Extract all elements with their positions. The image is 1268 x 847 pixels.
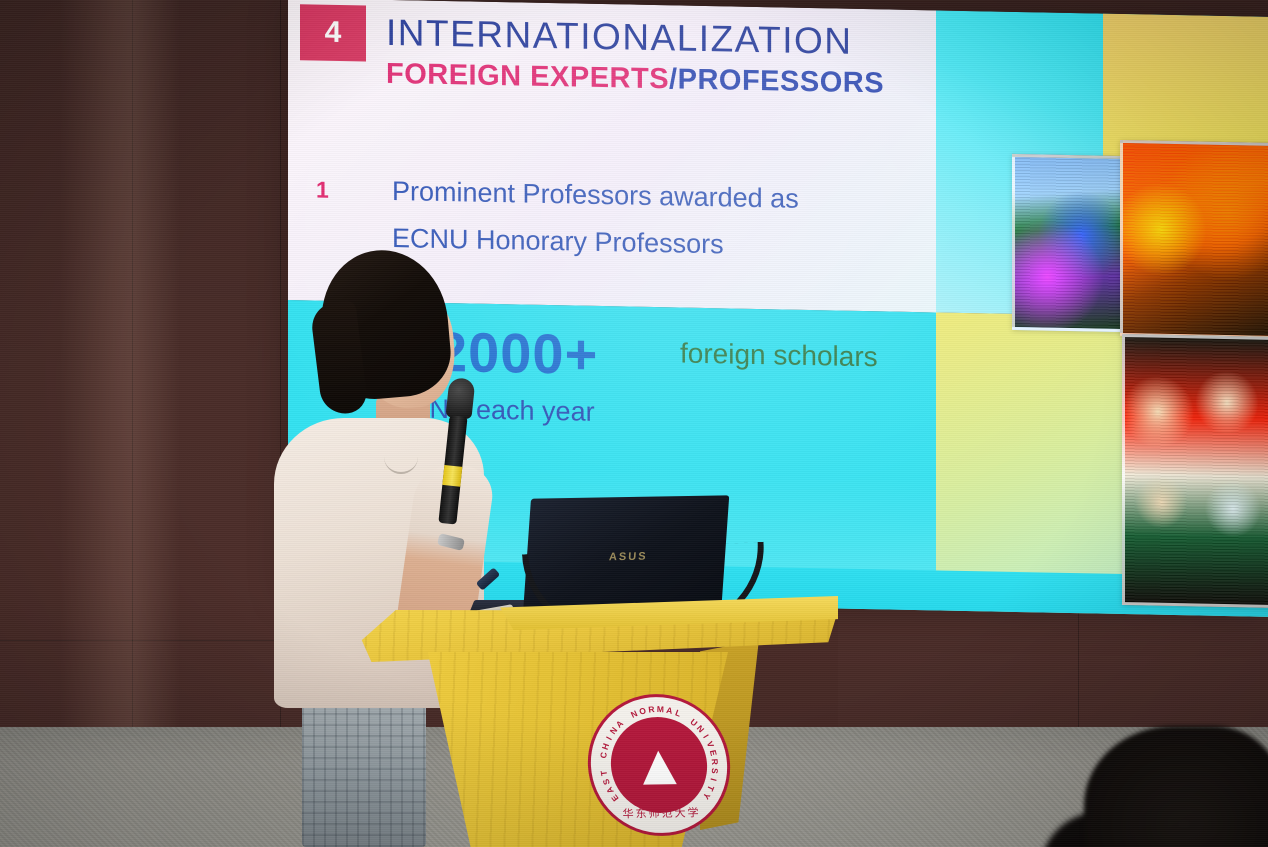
seal-ring-char: A (665, 705, 673, 716)
seal-ring-char: M (657, 704, 665, 714)
bullet-1-line-1: Prominent Professors awarded as (392, 168, 799, 223)
seal-ring-char: L (674, 708, 683, 719)
microphone-head (445, 377, 475, 419)
photo-grain (1123, 143, 1268, 336)
slide-subtitle-blue: /PROFESSORS (669, 63, 884, 99)
seal-ring-char: R (710, 759, 721, 766)
slide-photo-students (1012, 154, 1126, 332)
seal-ring-char: R (648, 704, 656, 715)
bullet-2-highlight: foreign scholars (680, 338, 878, 374)
seal-ring-char: E (708, 749, 719, 757)
wall-light-sheen (60, 0, 180, 847)
slide-photo-dinner (1120, 140, 1268, 339)
section-number-badge: 4 (300, 4, 366, 61)
bullet-1-number: 1 (316, 177, 329, 204)
seal-ring-char: T (705, 784, 716, 793)
seal-ring-char: T (598, 770, 609, 777)
presentation-photo-scene: 4 INTERNATIONALIZATION FOREIGN EXPERTS/P… (0, 0, 1268, 847)
seal-ring-char: N (695, 723, 707, 734)
seal-ring-char: C (598, 751, 609, 759)
seal-ring-char: I (701, 733, 711, 740)
tree-emblem-icon: ▲ (641, 743, 677, 788)
university-seal: EAST CHINA NORMAL UNIVERSITY ▲ 华东师范大学 (584, 693, 733, 837)
seal-ring-char: I (708, 777, 718, 782)
section-number-label: 4 (325, 16, 342, 50)
slide-subtitle-pink: FOREIGN EXPERTS (386, 58, 669, 95)
photo-grain (1125, 337, 1268, 605)
seal-ring-char: I (604, 734, 614, 741)
seal-ring-char: H (600, 742, 612, 752)
seal-chinese-text: 华东师范大学 (593, 804, 730, 822)
seal-ring-char: V (705, 740, 717, 749)
seal-ring-char: S (710, 768, 720, 775)
slide-photo-group-portrait (1122, 334, 1268, 608)
slide-title: INTERNATIONALIZATION (386, 12, 852, 63)
seal-ring-char: O (638, 705, 648, 716)
microphone-yellow-band (442, 465, 462, 487)
seal-ring-char: E (609, 792, 621, 803)
photo-grain (1015, 157, 1123, 329)
seal-ring-char: Y (701, 791, 713, 802)
